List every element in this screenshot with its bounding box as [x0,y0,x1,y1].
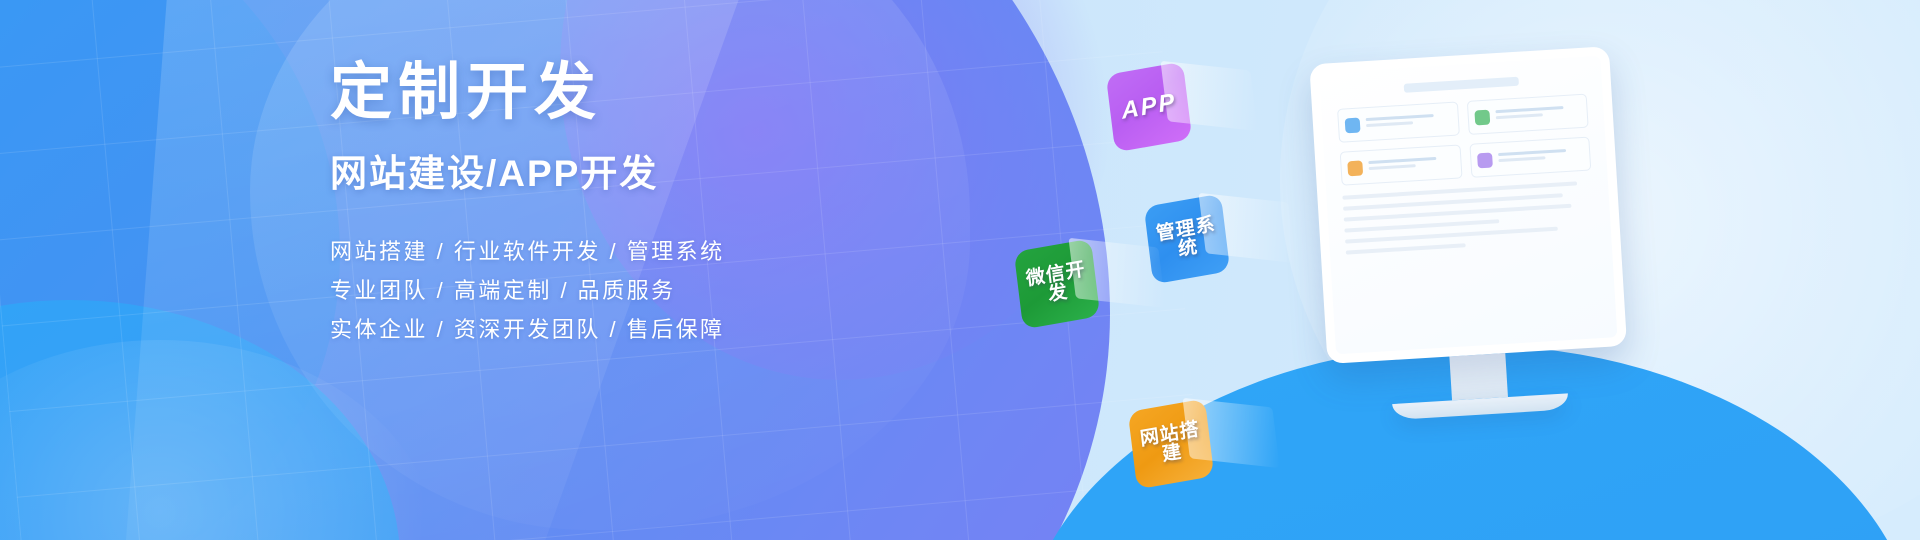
screen-card-row-1 [1337,94,1589,143]
screen-header-bar [1403,77,1518,93]
screen-paragraph-placeholder [1342,180,1595,254]
monitor-screen [1319,56,1618,355]
service-tag-wechat-development-label: 微信开发 [1024,259,1090,308]
banner-title: 定制开发 [330,60,890,127]
monitor-stand-neck [1449,353,1508,400]
card-icon-orange [1347,160,1363,176]
service-tag-website-building[interactable]: 网站搭建 [1128,399,1214,490]
service-tag-management-system[interactable]: 管理系统 [1144,194,1230,285]
screen-mini-card [1340,144,1462,185]
banner-subtitle: 网站建设/APP开发 [330,153,890,196]
description-line-3: 实体企业 / 资深开发团队 / 售后保障 [330,310,890,349]
card-text-lines [1495,105,1581,122]
description-line-1: 网站搭建 / 行业软件开发 / 管理系统 [330,232,890,271]
card-icon-purple [1477,152,1493,168]
screen-mini-card [1337,102,1459,143]
screen-mini-card [1469,137,1591,178]
screen-card-row-2 [1340,137,1592,186]
promo-banner: 定制开发 网站建设/APP开发 网站搭建 / 行业软件开发 / 管理系统 专业团… [0,0,1920,540]
description-line-2: 专业团队 / 高端定制 / 品质服务 [330,271,890,310]
card-text-lines [1368,156,1454,173]
service-tag-management-system-label: 管理系统 [1154,214,1220,263]
banner-copy: 定制开发 网站建设/APP开发 网站搭建 / 行业软件开发 / 管理系统 专业团… [330,60,890,349]
screen-mini-card [1466,94,1588,135]
service-tag-app[interactable]: APP [1106,62,1192,153]
card-text-lines [1366,113,1452,130]
card-icon-blue [1345,117,1361,133]
banner-description: 网站搭建 / 行业软件开发 / 管理系统 专业团队 / 高端定制 / 品质服务 … [330,232,890,349]
monitor-illustration [1309,46,1630,424]
service-tag-app-label: APP [1120,90,1178,124]
service-tag-wechat-development[interactable]: 微信开发 [1014,239,1100,330]
card-text-lines [1498,148,1584,165]
card-icon-green [1474,109,1490,125]
monitor-frame [1309,46,1627,364]
background-decoration [0,0,1920,540]
service-tag-website-building-label: 网站搭建 [1138,419,1204,468]
